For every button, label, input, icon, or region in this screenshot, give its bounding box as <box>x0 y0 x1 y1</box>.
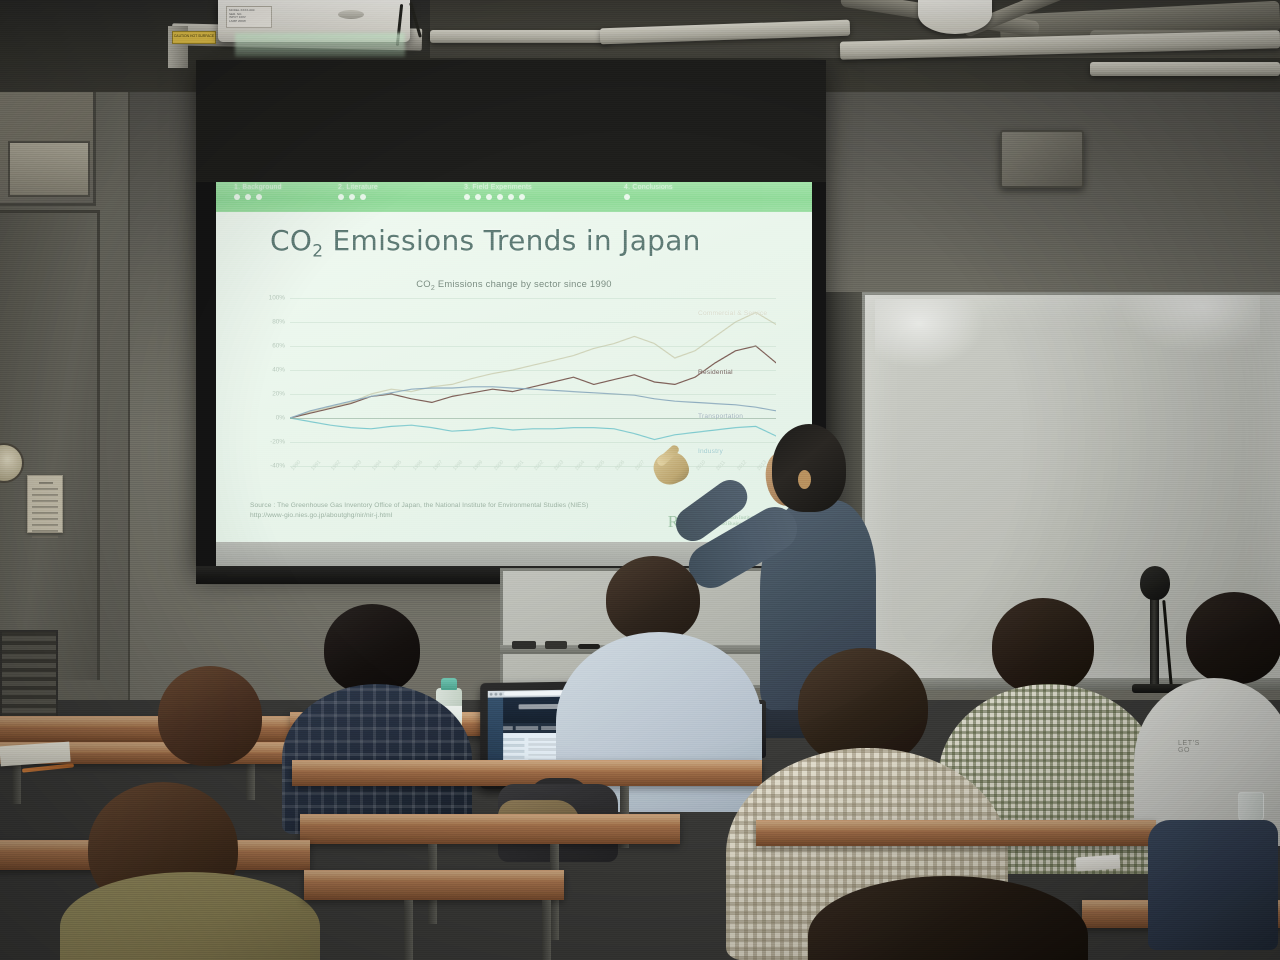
slide-title: CO2 Emissions Trends in Japan <box>270 224 701 262</box>
chart-y-tick-label: -20% <box>270 439 285 446</box>
chart-caption: CO2 Emissions change by sector since 199… <box>216 278 812 292</box>
chart-y-tick-label: 40% <box>272 367 285 374</box>
hoodie-text: LET'S GO <box>1178 740 1200 754</box>
chart-series-line <box>290 346 776 418</box>
desk-row-front-center-2 <box>304 870 564 900</box>
pen[interactable] <box>22 763 74 772</box>
chart-y-tick-label: 60% <box>272 343 285 350</box>
chart-series-label: Commercial & Service <box>698 310 767 317</box>
nav-dots-background <box>234 194 282 200</box>
desk-row-right <box>756 820 1156 846</box>
chart-series-line <box>290 312 776 418</box>
projector-light-glow <box>235 33 405 57</box>
attendee-head <box>324 604 420 694</box>
chart-gridline <box>290 346 776 347</box>
chart-series-line <box>290 418 776 440</box>
chart-y-tick-label: 20% <box>272 391 285 398</box>
nav-dots-literature <box>338 194 378 200</box>
slide-section-nav: 1. Background 2. Literature 3. Field Exp… <box>216 182 812 212</box>
nav-section-literature[interactable]: 2. Literature <box>338 184 378 200</box>
attendee-head <box>1186 592 1280 684</box>
chart-gridline <box>290 322 776 323</box>
screen-upper-dark-area <box>196 60 826 182</box>
door-frame[interactable] <box>0 210 100 680</box>
desk-leg <box>542 900 551 960</box>
desk-leg <box>404 900 413 960</box>
attendee-head <box>992 598 1094 694</box>
presenter-head <box>772 424 846 512</box>
nav-section-background[interactable]: 1. Background <box>234 184 282 200</box>
chart-gridline <box>290 442 776 443</box>
chart-y-tick-label: 0% <box>276 415 285 422</box>
nav-dots-conclusions <box>624 194 673 200</box>
lecture-hall-scene: CAUTION HOT SURFACE MODEL XXXX-000 SER. … <box>0 0 1280 960</box>
chart-series-svg <box>290 298 776 466</box>
nav-section-field-experiments[interactable]: 3. Field Experiments <box>464 184 532 200</box>
chart-series-label: Residential <box>698 369 733 376</box>
projector-lens-icon <box>338 10 364 19</box>
ceiling-light-fixture <box>430 30 610 43</box>
drinking-glass[interactable] <box>1238 792 1264 822</box>
chart-gridline <box>290 394 776 395</box>
tea-bottle-cap[interactable] <box>441 678 457 690</box>
chart-series-label: Industry <box>698 448 723 455</box>
wall-speaker-box <box>1000 130 1084 188</box>
projector-warning-label: CAUTION HOT SURFACE <box>172 31 216 44</box>
chart-y-tick-label: 100% <box>269 295 285 302</box>
chart-y-tick-label: -40% <box>270 463 285 470</box>
whiteboard-glare <box>1120 295 1260 355</box>
whiteboard-eraser[interactable] <box>545 641 567 649</box>
ceiling-light-fixture <box>1090 62 1280 76</box>
wall-vent-grille <box>0 630 58 720</box>
desk-row-center <box>292 760 762 786</box>
nav-dots-field-experiments <box>464 194 532 200</box>
desk-row-front-center <box>300 814 680 844</box>
nav-section-conclusions[interactable]: 4. Conclusions <box>624 184 673 200</box>
backpack[interactable] <box>1148 820 1278 950</box>
presenter-ear <box>798 470 811 489</box>
chart-series-label: Transportation <box>698 413 743 420</box>
whiteboard-eraser[interactable] <box>512 641 536 649</box>
whiteboard-glare <box>875 299 985 369</box>
attendee-head <box>606 556 700 642</box>
wall-notice-paper <box>27 475 63 533</box>
microphone-icon[interactable] <box>1140 566 1170 600</box>
slide-source-citation: Source : The Greenhouse Gas Inventory Of… <box>250 501 588 520</box>
attendee-torso <box>282 684 472 834</box>
attendee-head <box>158 666 262 766</box>
whiteboard-marker[interactable] <box>578 644 600 649</box>
chart-gridline <box>290 298 776 299</box>
chart-y-tick-label: 80% <box>272 319 285 326</box>
chart-plot-area: 100%80%60%40%20%0%-20%-40%19901991199219… <box>290 298 776 466</box>
projector-spec-label: MODEL XXXX-000 SER. NO. INPUT 100V LAMP … <box>226 6 272 28</box>
emissions-line-chart: 100%80%60%40%20%0%-20%-40%19901991199219… <box>242 294 786 492</box>
